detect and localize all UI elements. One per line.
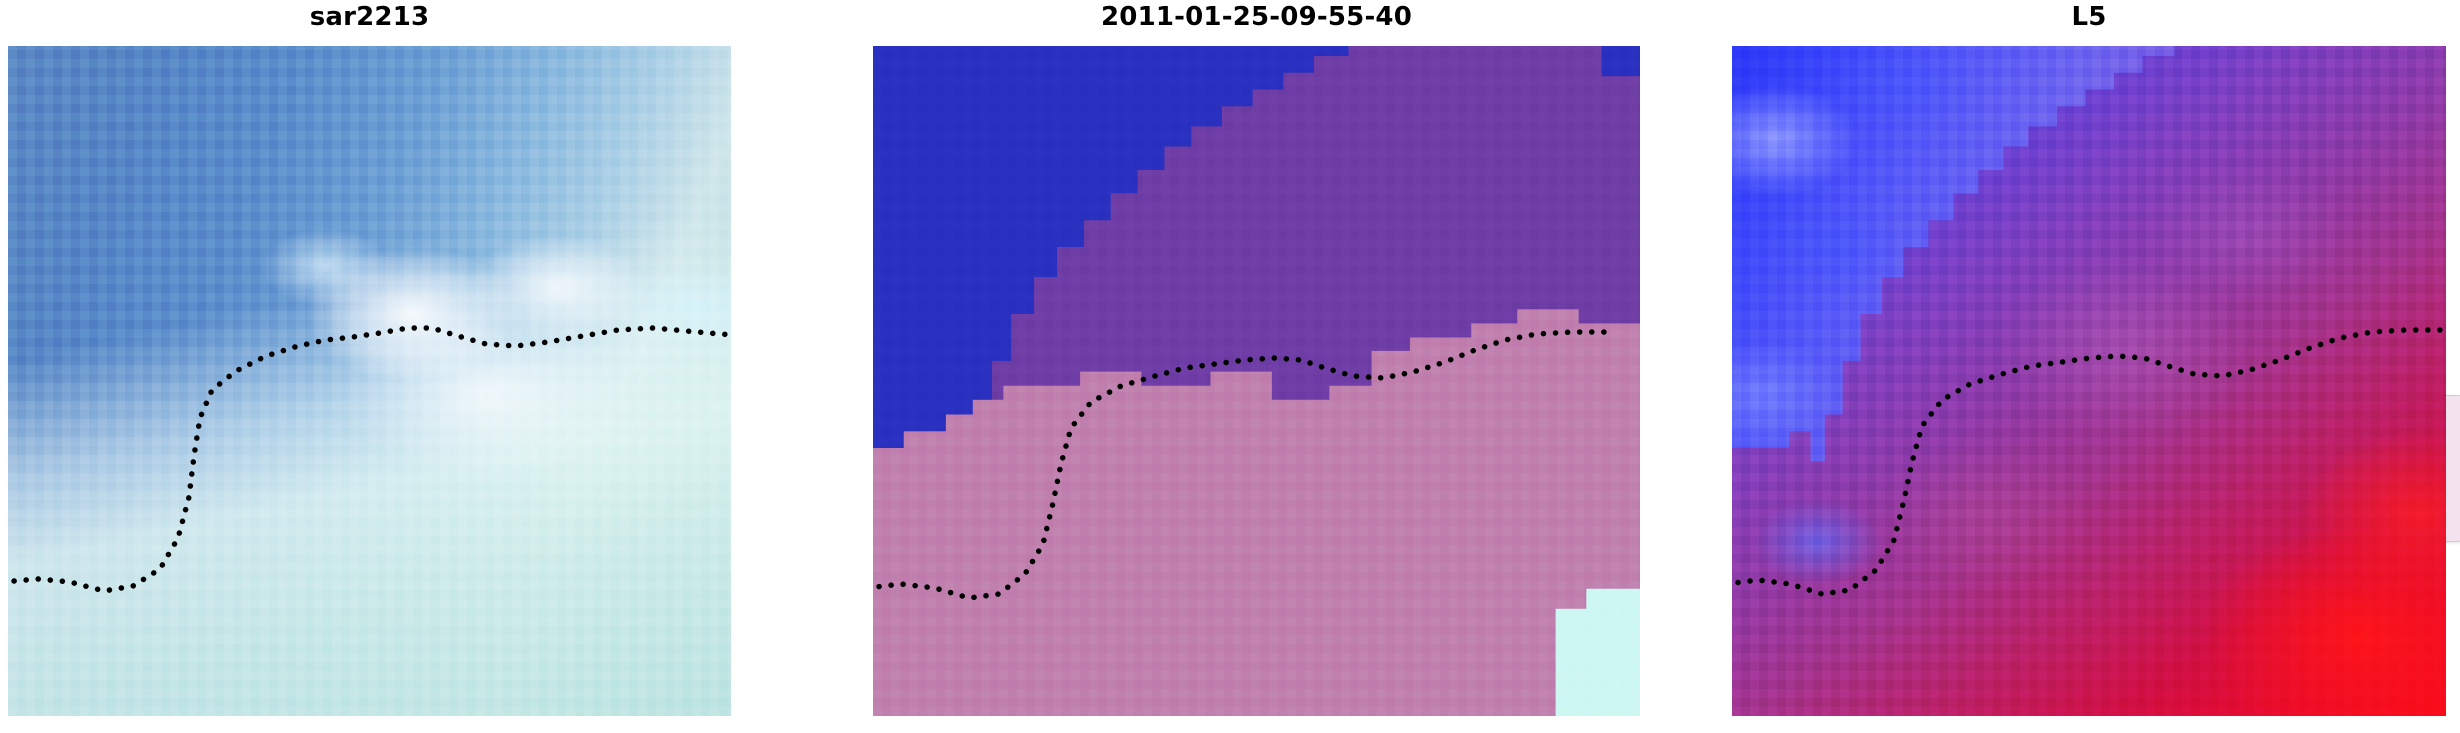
panel-l5: L5 bbox=[1732, 0, 2446, 733]
panel-title-2: 2011-01-25-09-55-40 bbox=[873, 2, 1640, 32]
panel-2-axes bbox=[873, 46, 1640, 716]
panel-title-3: L5 bbox=[1732, 2, 2446, 32]
panel-2-pixel-speckle bbox=[873, 46, 1640, 716]
panel-sar2213: sar2213 bbox=[8, 0, 731, 733]
panel-title-1: sar2213 bbox=[8, 2, 731, 32]
panel-classification: 2011-01-25-09-55-40 sand whitewa bbox=[873, 0, 1640, 733]
panel-1-pixel-speckle bbox=[8, 46, 731, 716]
panel-3-pixel-speckle bbox=[1732, 46, 2446, 716]
panel-1-axes bbox=[8, 46, 731, 716]
panel-3-axes bbox=[1732, 46, 2446, 716]
figure-canvas: sar2213 2011-01-25-09-55-40 bbox=[0, 0, 2460, 733]
